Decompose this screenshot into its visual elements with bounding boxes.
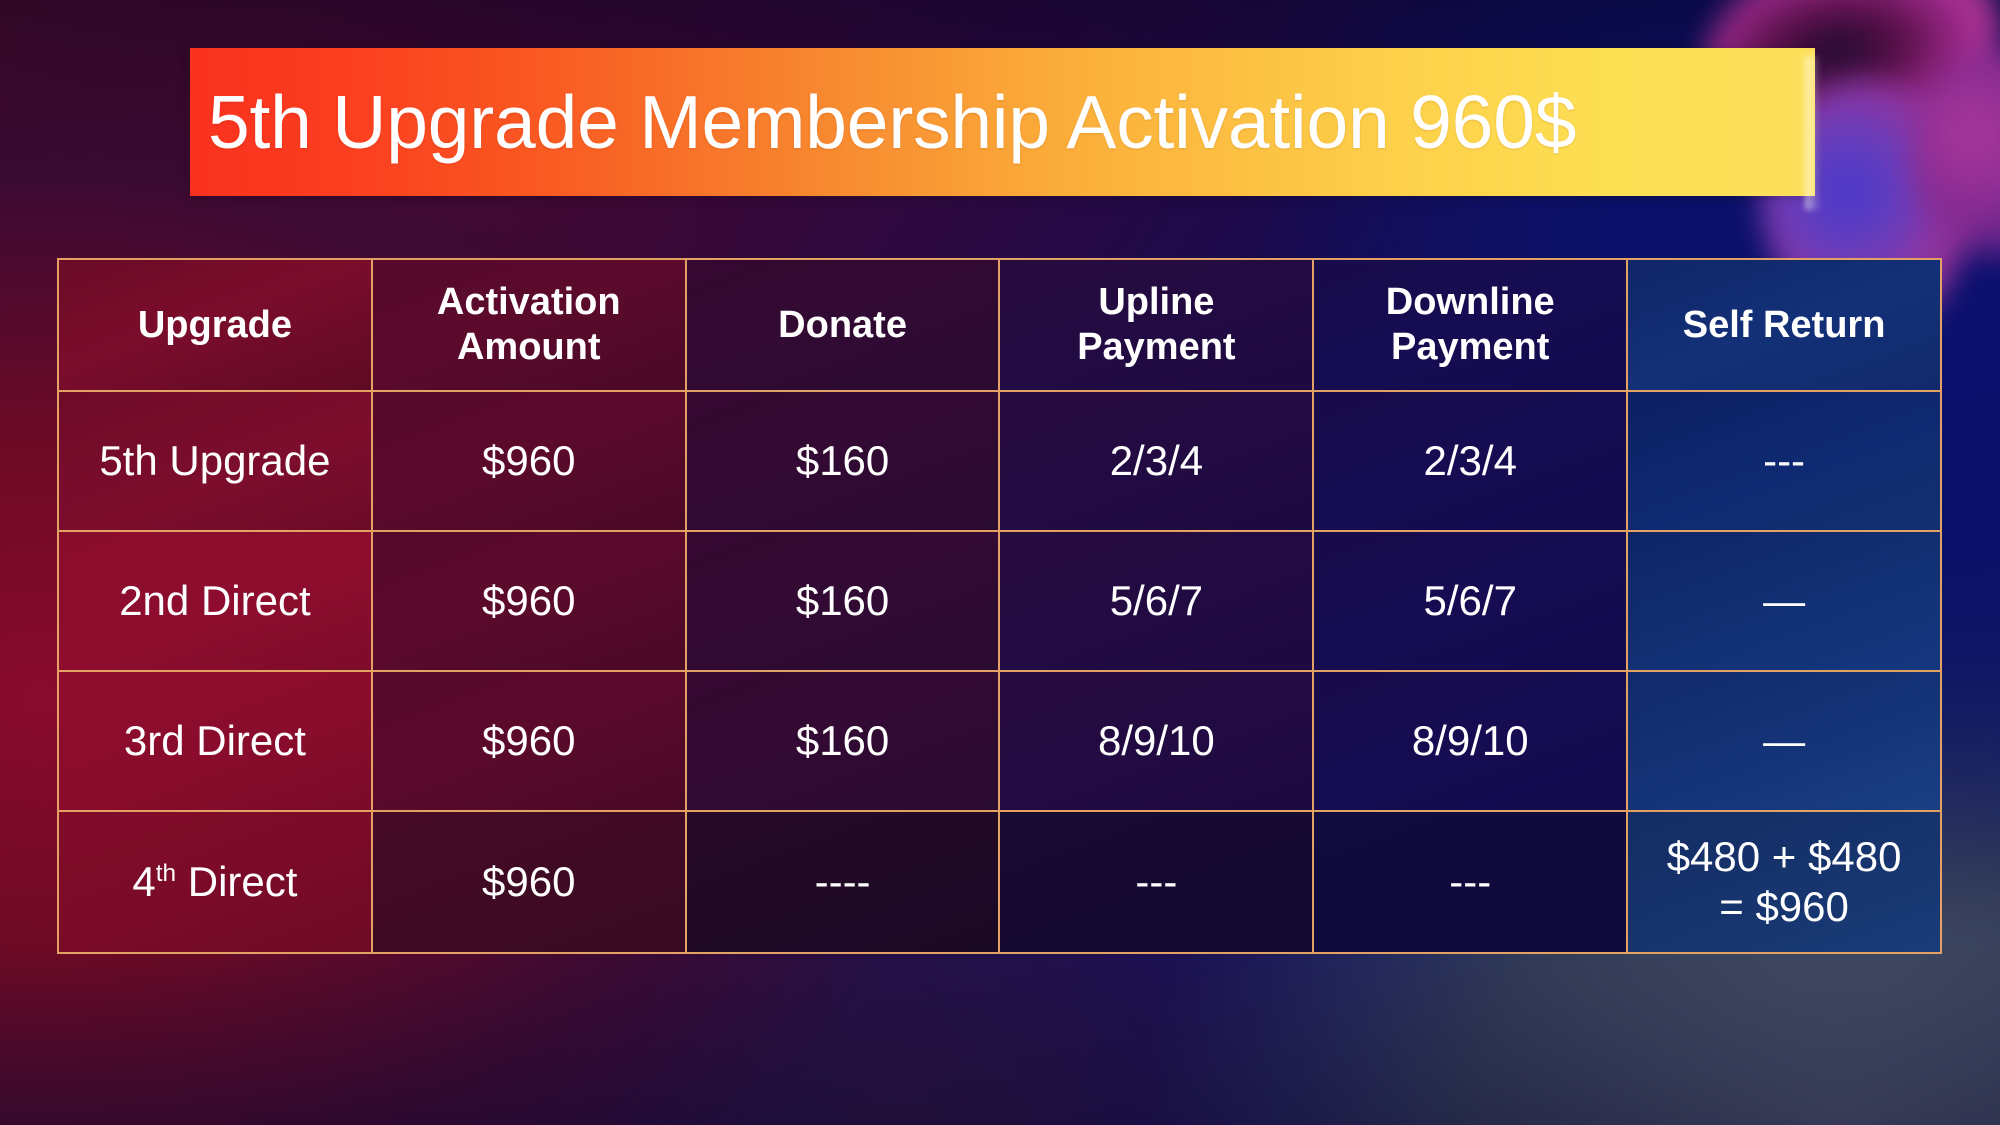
table-row: 2nd Direct $960 $160 5/6/7 5/6/7 — <box>58 531 1941 671</box>
header-label: Donate <box>695 303 991 348</box>
column-header-upline-payment: Upline Payment <box>999 259 1313 391</box>
cell-activation-amount: $960 <box>372 531 686 671</box>
cell-upgrade: 4th Direct <box>58 811 372 953</box>
cell-self-return: $480 + $480 = $960 <box>1627 811 1941 953</box>
table-body: 5th Upgrade $960 $160 2/3/4 2/3/4 --- 2n… <box>58 391 1941 953</box>
header-label-line2: Amount <box>381 325 677 370</box>
slide-canvas: 5th Upgrade Membership Activation 960$ U… <box>0 0 2000 1125</box>
header-label-line2: Payment <box>1008 325 1304 370</box>
header-label: Upgrade <box>67 303 363 348</box>
ordinal-label: Direct <box>176 858 297 905</box>
cell-donate: ---- <box>686 811 1000 953</box>
cell-upline-payment: 5/6/7 <box>999 531 1313 671</box>
cell-self-return: — <box>1627 671 1941 811</box>
cell-upgrade: 5th Upgrade <box>58 391 372 531</box>
table-row: 3rd Direct $960 $160 8/9/10 8/9/10 — <box>58 671 1941 811</box>
table-row: 5th Upgrade $960 $160 2/3/4 2/3/4 --- <box>58 391 1941 531</box>
pricing-table-wrapper: Upgrade Activation Amount Donate Upline … <box>57 258 1942 954</box>
cell-downline-payment: 5/6/7 <box>1313 531 1627 671</box>
cell-donate: $160 <box>686 531 1000 671</box>
table-header: Upgrade Activation Amount Donate Upline … <box>58 259 1941 391</box>
header-label-line2: Payment <box>1322 325 1618 370</box>
self-return-line1: $480 + $480 <box>1636 832 1932 882</box>
cell-downline-payment: 2/3/4 <box>1313 391 1627 531</box>
table-row: 4th Direct $960 ---- --- --- $480 + $480… <box>58 811 1941 953</box>
cell-activation-amount: $960 <box>372 811 686 953</box>
cell-upline-payment: 8/9/10 <box>999 671 1313 811</box>
cell-self-return: --- <box>1627 391 1941 531</box>
cell-upgrade: 3rd Direct <box>58 671 372 811</box>
column-header-downline-payment: Downline Payment <box>1313 259 1627 391</box>
cell-upgrade: 2nd Direct <box>58 531 372 671</box>
cell-downline-payment: --- <box>1313 811 1627 953</box>
cell-donate: $160 <box>686 391 1000 531</box>
column-header-upgrade: Upgrade <box>58 259 372 391</box>
column-header-donate: Donate <box>686 259 1000 391</box>
cell-activation-amount: $960 <box>372 391 686 531</box>
cell-upline-payment: 2/3/4 <box>999 391 1313 531</box>
header-label-line1: Activation <box>381 280 677 325</box>
ordinal-number: 4 <box>132 858 155 905</box>
title-banner: 5th Upgrade Membership Activation 960$ <box>190 48 1815 196</box>
self-return-line2: = $960 <box>1636 882 1932 932</box>
column-header-self-return: Self Return <box>1627 259 1941 391</box>
cell-upline-payment: --- <box>999 811 1313 953</box>
header-label: Self Return <box>1636 303 1932 348</box>
cell-downline-payment: 8/9/10 <box>1313 671 1627 811</box>
cell-donate: $160 <box>686 671 1000 811</box>
upgrade-matrix-table: Upgrade Activation Amount Donate Upline … <box>57 258 1942 954</box>
table-header-row: Upgrade Activation Amount Donate Upline … <box>58 259 1941 391</box>
cell-activation-amount: $960 <box>372 671 686 811</box>
cell-self-return: — <box>1627 531 1941 671</box>
column-header-activation-amount: Activation Amount <box>372 259 686 391</box>
header-label-line1: Downline <box>1322 280 1618 325</box>
header-label-line1: Upline <box>1008 280 1304 325</box>
page-title: 5th Upgrade Membership Activation 960$ <box>190 83 1576 161</box>
ordinal-suffix: th <box>156 860 176 887</box>
